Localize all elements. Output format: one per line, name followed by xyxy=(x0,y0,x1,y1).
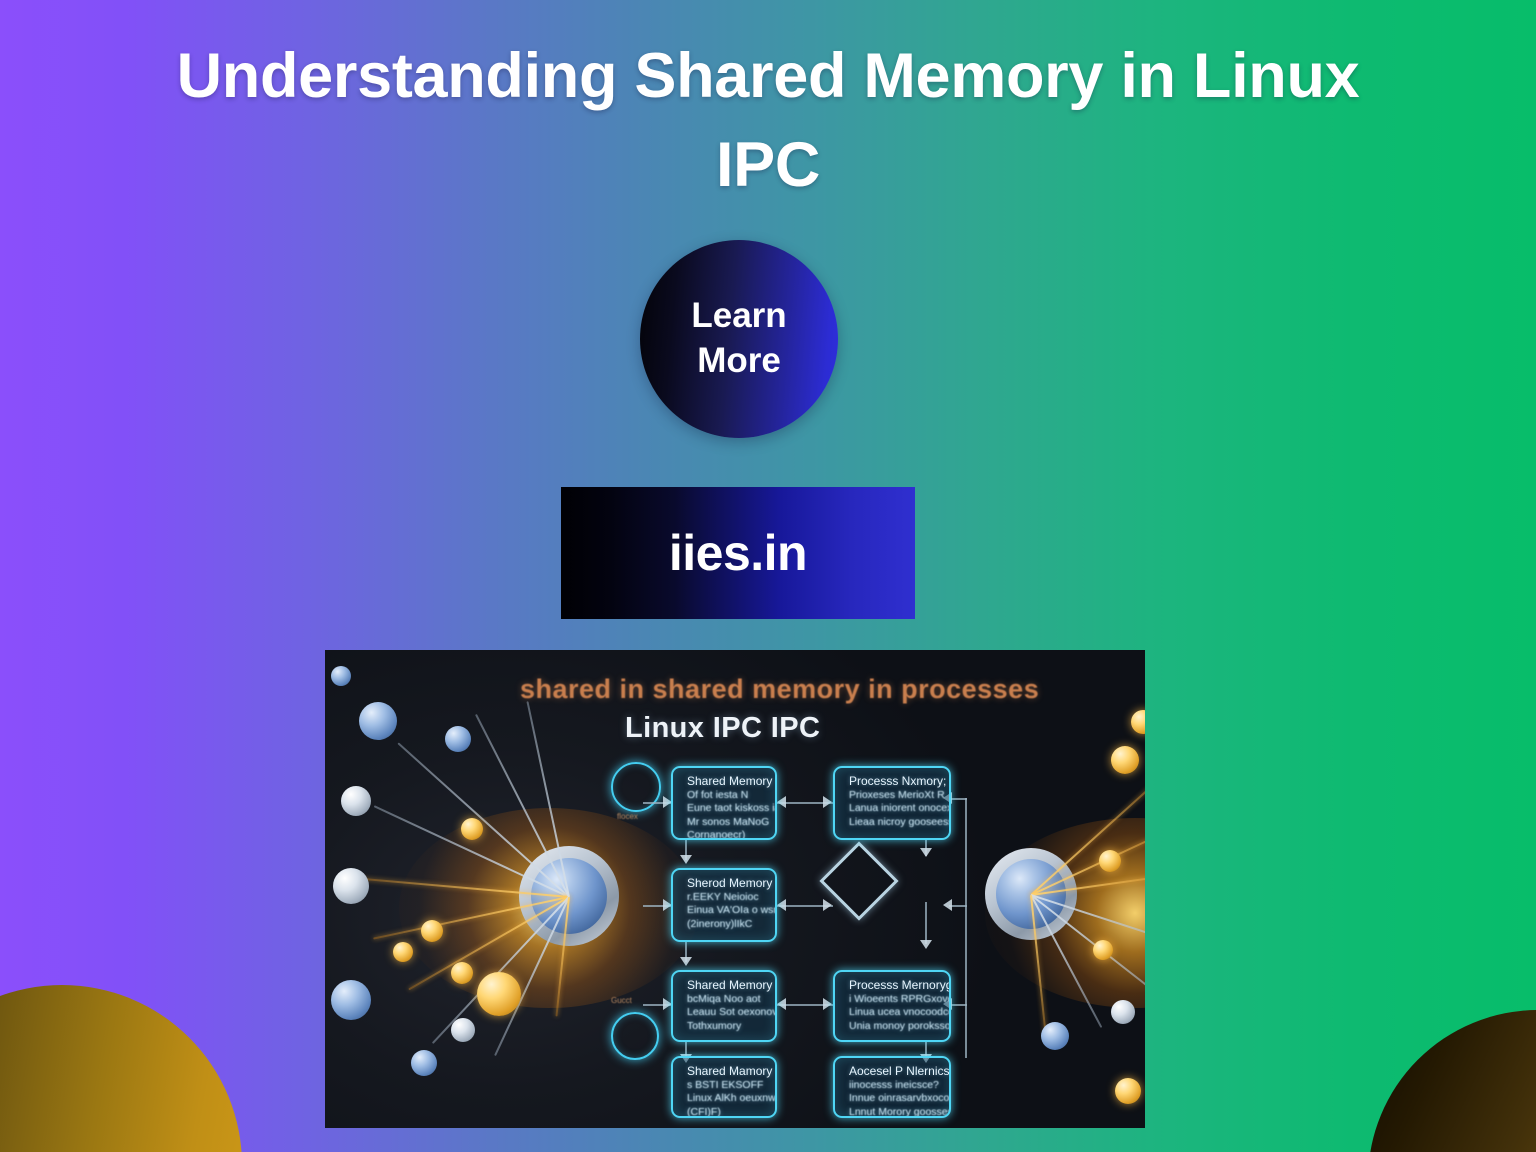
network-node xyxy=(477,972,521,1016)
magnifier-ring-bottom xyxy=(611,1012,659,1060)
connector-arrow xyxy=(777,796,786,808)
learn-more-line-1: Learn xyxy=(691,294,786,339)
connector-arrow xyxy=(823,899,832,911)
diagram-box-shared-memory-1: Shared Memory Of fot iesta N Eune taot k… xyxy=(671,766,777,840)
connector-line xyxy=(925,902,927,944)
connector-line xyxy=(965,798,967,1058)
network-node xyxy=(1099,850,1121,872)
magnifier-ring-top xyxy=(611,762,661,812)
brand-banner[interactable]: iies.in xyxy=(561,487,915,619)
box-line: Linua ucea vnocoodcones xyxy=(849,1006,940,1020)
box-line: Eune taot kiskoss ia xyxy=(687,802,766,816)
box-line: r.EEKY Neioioc xyxy=(687,891,766,905)
diagram-small-label-1: flocex xyxy=(617,812,638,821)
diagram-box-shared-memory-4: Shared Mamory s BSTI EKSOFF Linux AlKh o… xyxy=(671,1056,777,1118)
network-node xyxy=(445,726,471,752)
connector-arrow xyxy=(680,855,692,864)
box-line: i Wioeents RPRGxove xyxy=(849,993,940,1007)
network-node xyxy=(333,868,369,904)
decorative-circle-bottom-right xyxy=(1368,1010,1536,1152)
box-line: Linux AlKh oeuxnwenrg xyxy=(687,1092,766,1106)
connector-arrow xyxy=(680,957,692,966)
network-node xyxy=(411,1050,437,1076)
network-node xyxy=(461,818,483,840)
connector-arrow xyxy=(920,848,932,857)
diagram-canvas: shared in shared memory in processes Lin… xyxy=(325,650,1145,1128)
network-node xyxy=(451,962,473,984)
connection-spoke xyxy=(475,714,570,898)
box-line: Aocesel P Nlernicsony xyxy=(849,1065,940,1079)
box-line: Shared Memory xyxy=(687,979,766,993)
connector-arrow xyxy=(823,998,832,1010)
box-line: Processs Mernoryg xyxy=(849,979,940,993)
box-line: Unia monoy porokssoa xyxy=(849,1020,940,1034)
diagram-box-process-memory-3: Processs Mernoryg i Wioeents RPRGxove Li… xyxy=(833,970,951,1042)
connector-arrow xyxy=(920,940,932,949)
diagram-headline-accent: shared in shared memory in processes xyxy=(520,674,1039,705)
network-node xyxy=(341,786,371,816)
box-line: Leauu Sot oexonoveing xyxy=(687,1006,766,1020)
box-line: Lieaa nicroy gooseess xyxy=(849,816,940,830)
connection-spoke xyxy=(397,742,569,897)
box-line: (2inerony)lIkC xyxy=(687,918,766,932)
diagram-box-process-memory-4: Aocesel P Nlernicsony iinocesss ineicsce… xyxy=(833,1056,951,1118)
box-line: iinocesss ineicsce? xyxy=(849,1079,940,1093)
network-node xyxy=(1115,1078,1141,1104)
learn-more-button[interactable]: Learn More xyxy=(640,240,838,438)
box-line: (CFI)F) xyxy=(687,1106,766,1119)
decorative-circle-bottom-left xyxy=(0,985,242,1152)
connector-arrow xyxy=(777,899,786,911)
box-line: Lnnut Morory goossess xyxy=(849,1106,940,1119)
network-node xyxy=(1111,746,1139,774)
network-node xyxy=(1111,1000,1135,1024)
diagram-box-shared-memory-2: Sherod Memory r.EEKY Neioioc Einua VA'OI… xyxy=(671,868,777,942)
connector-arrow xyxy=(943,899,952,911)
box-line: Of fot iesta N xyxy=(687,789,766,803)
network-node xyxy=(1041,1022,1069,1050)
box-line: Innue oinrasarvbxocoaet xyxy=(849,1092,940,1106)
box-line: Einua VA'OIa o wsnoang xyxy=(687,904,766,918)
box-line: s BSTI EKSOFF xyxy=(687,1079,766,1093)
diagram-box-shared-memory-3: Shared Memory bcMiqa Noo aot Leauu Sot o… xyxy=(671,970,777,1042)
box-line: Shared Memory xyxy=(687,775,766,789)
box-line: Cornanoecr) xyxy=(687,829,766,840)
connection-spoke xyxy=(1030,774,1145,896)
network-node xyxy=(421,920,443,942)
network-node xyxy=(331,666,351,686)
box-line: Processs Nxmory; xyxy=(849,775,940,789)
box-line: Prioxeses MerioXt R xyxy=(849,789,940,803)
network-node xyxy=(451,1018,475,1042)
learn-more-line-2: More xyxy=(697,339,781,384)
shared-memory-diagram-image: shared in shared memory in processes Lin… xyxy=(325,650,1145,1128)
network-node xyxy=(1093,940,1113,960)
box-line: bcMiqa Noo aot xyxy=(687,993,766,1007)
diagram-small-label-2: Gucct xyxy=(611,996,632,1005)
connector-arrow xyxy=(777,998,786,1010)
network-node xyxy=(393,942,413,962)
network-node xyxy=(1131,710,1145,734)
box-line: Shared Mamory xyxy=(687,1065,766,1079)
box-line: Mr sonos MaNoG xyxy=(687,816,766,830)
page-title: Understanding Shared Memory in Linux IPC xyxy=(0,32,1536,211)
network-node xyxy=(359,702,397,740)
connector-arrow xyxy=(823,796,832,808)
diagram-box-process-memory-1: Processs Nxmory; Prioxeses MerioXt R Lan… xyxy=(833,766,951,840)
box-line: Sherod Memory xyxy=(687,877,766,891)
poster-canvas: Understanding Shared Memory in Linux IPC… xyxy=(0,0,1536,1152)
box-line: Lanua iniorent onocexus xyxy=(849,802,940,816)
brand-label: iies.in xyxy=(669,524,807,582)
box-line: Tothxumory xyxy=(687,1020,766,1034)
diagram-headline-main: Linux IPC IPC xyxy=(625,712,820,745)
network-node xyxy=(331,980,371,1020)
